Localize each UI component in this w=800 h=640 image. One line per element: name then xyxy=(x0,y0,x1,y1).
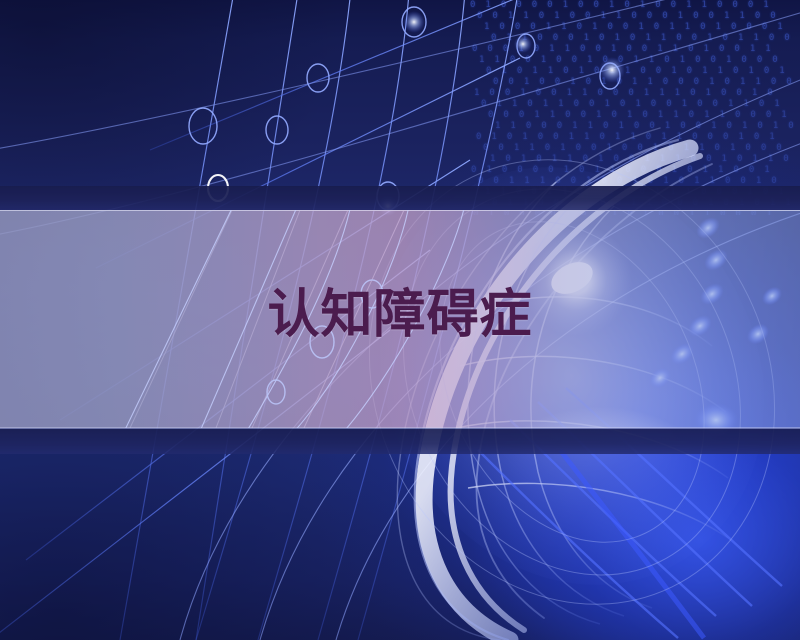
binary-row: 0 0 0 1 0 1 1 0 0 1 0 0 1 1 0 1 0 0 1 1 xyxy=(472,44,800,55)
binary-row: 0 1 0 0 0 0 1 0 0 1 0 1 0 0 1 1 0 0 0 1 xyxy=(470,0,800,11)
binary-row: 0 0 1 1 0 1 0 0 1 0 0 1 0 1 1 0 1 0 0 0 xyxy=(483,143,800,154)
binary-row: 1 1 0 0 1 0 0 1 0 0 1 1 0 1 0 0 1 0 0 0 xyxy=(479,55,800,66)
binary-digit-field: 0 1 0 0 0 0 1 0 0 1 0 1 0 0 1 1 0 0 0 10… xyxy=(470,0,800,215)
binary-row: 0 1 1 0 1 1 0 0 1 0 1 0 0 1 0 0 1 1 0 1 xyxy=(481,99,800,110)
binary-row: 0 1 0 1 1 0 1 0 1 1 0 0 1 0 1 1 0 1 0 1 xyxy=(486,66,800,77)
binary-row: 1 0 1 0 1 1 0 1 0 0 1 1 1 0 0 1 0 1 1 0 xyxy=(490,154,800,165)
band-top-bar xyxy=(0,186,800,211)
binary-row: 0 1 0 0 0 0 1 0 1 1 0 0 0 1 0 1 1 0 0 1 xyxy=(471,165,800,176)
binary-row: 0 1 1 0 0 0 1 0 1 0 1 1 0 0 1 0 1 1 0 0 xyxy=(491,33,800,44)
binary-row: 1 0 0 0 1 1 0 1 0 0 1 0 1 1 0 1 0 0 0 1 xyxy=(484,22,800,33)
binary-row: 0 0 1 1 0 1 0 0 1 1 0 0 0 1 0 0 1 1 0 0 xyxy=(477,11,800,22)
binary-row: 0 0 0 1 1 0 0 1 0 1 0 1 1 0 1 1 0 0 0 1 xyxy=(488,110,800,121)
binary-row: 1 1 0 0 0 1 1 0 1 0 0 1 0 0 1 0 1 0 1 0 xyxy=(495,121,800,132)
presentation-slide: 0 1 0 0 0 0 1 0 0 1 0 1 0 0 1 1 0 0 0 10… xyxy=(0,0,800,640)
page-title: 认知障碍症 xyxy=(0,283,800,347)
binary-row: 0 0 1 0 0 1 0 1 0 1 1 0 0 0 1 0 1 1 0 0 xyxy=(493,77,800,88)
binary-row: 1 0 0 1 0 0 1 1 0 0 0 1 1 1 0 1 0 0 1 0 xyxy=(474,88,800,99)
binary-row: 0 1 0 1 0 0 1 1 0 1 1 0 1 1 0 0 0 1 0 1 xyxy=(476,132,800,143)
band-bottom-bar xyxy=(0,428,800,454)
